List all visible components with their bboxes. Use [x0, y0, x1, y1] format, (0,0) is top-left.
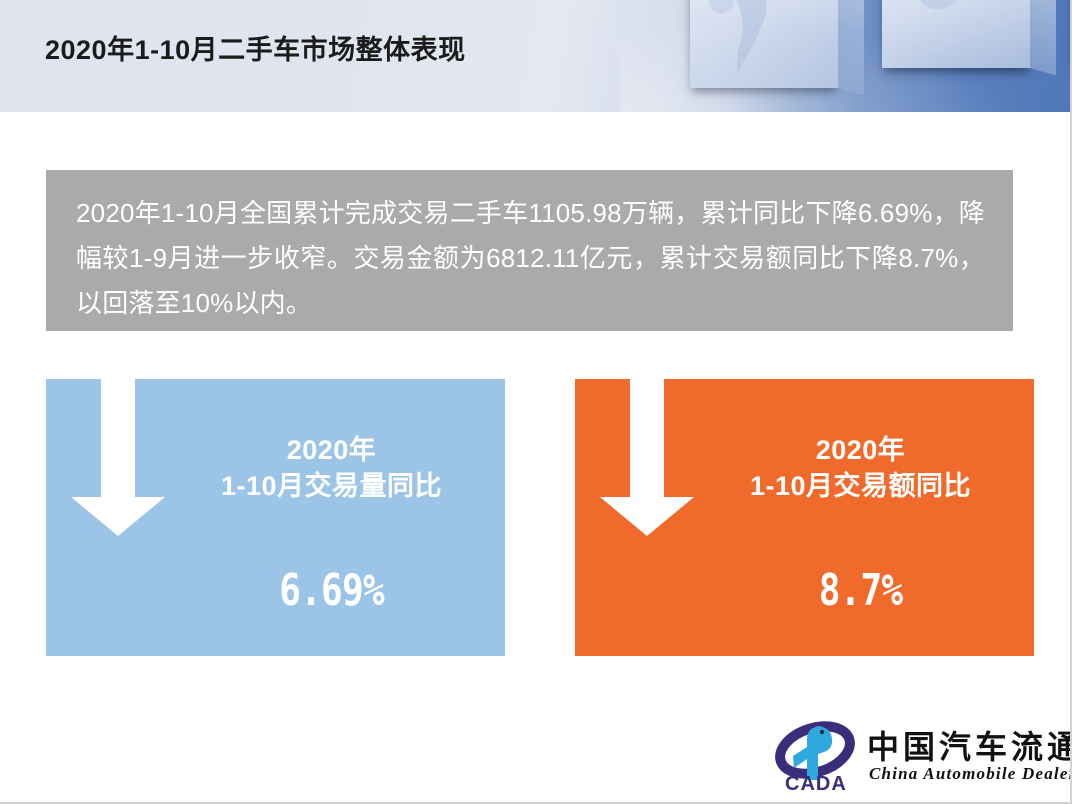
stat-card-label-line2: 1-10月交易量同比 [166, 468, 497, 504]
stat-card-label-line2: 1-10月交易额同比 [695, 468, 1026, 504]
logo-name-en: China Automobile Dealers Association [869, 764, 1072, 784]
stat-card-label-line1: 2020年 [166, 432, 497, 468]
slide: 2020年1-10月二手车市场整体表现 2020年1-10月全国累计完成交易二手… [0, 0, 1072, 804]
stat-card-value: 8.7% [725, 565, 996, 616]
slide-header: 2020年1-10月二手车市场整体表现 [0, 0, 1072, 112]
cada-logo: CADA 中国汽车流通协会 China Automobile Dealers A… [775, 718, 1060, 794]
header-decoration-image [620, 0, 1072, 112]
stat-card-transaction-volume: 2020年 1-10月交易量同比 6.69% [46, 379, 505, 656]
summary-box: 2020年1-10月全国累计完成交易二手车1105.98万辆，累计同比下降6.6… [46, 170, 1013, 331]
logo-name-cn: 中国汽车流通协会 [867, 722, 1072, 768]
cada-logo-mark-icon: CADA [775, 718, 859, 794]
stat-card-label-line1: 2020年 [695, 432, 1026, 468]
decorative-cube-icon [690, 0, 838, 88]
stat-card-value: 6.69% [196, 565, 467, 616]
down-arrow-icon [71, 379, 165, 536]
world-map-icon [690, 0, 838, 88]
stat-card-label: 2020年 1-10月交易额同比 [695, 432, 1026, 504]
stat-card-label: 2020年 1-10月交易量同比 [166, 432, 497, 504]
down-arrow-icon [600, 379, 694, 536]
world-map-icon [882, 0, 1030, 68]
stat-card-transaction-amount: 2020年 1-10月交易额同比 8.7% [575, 379, 1034, 656]
svg-text:CADA: CADA [785, 773, 847, 794]
decorative-cube-icon [882, 0, 1030, 68]
page-title: 2020年1-10月二手车市场整体表现 [45, 28, 466, 67]
summary-text: 2020年1-10月全国累计完成交易二手车1105.98万辆，累计同比下降6.6… [76, 191, 985, 326]
